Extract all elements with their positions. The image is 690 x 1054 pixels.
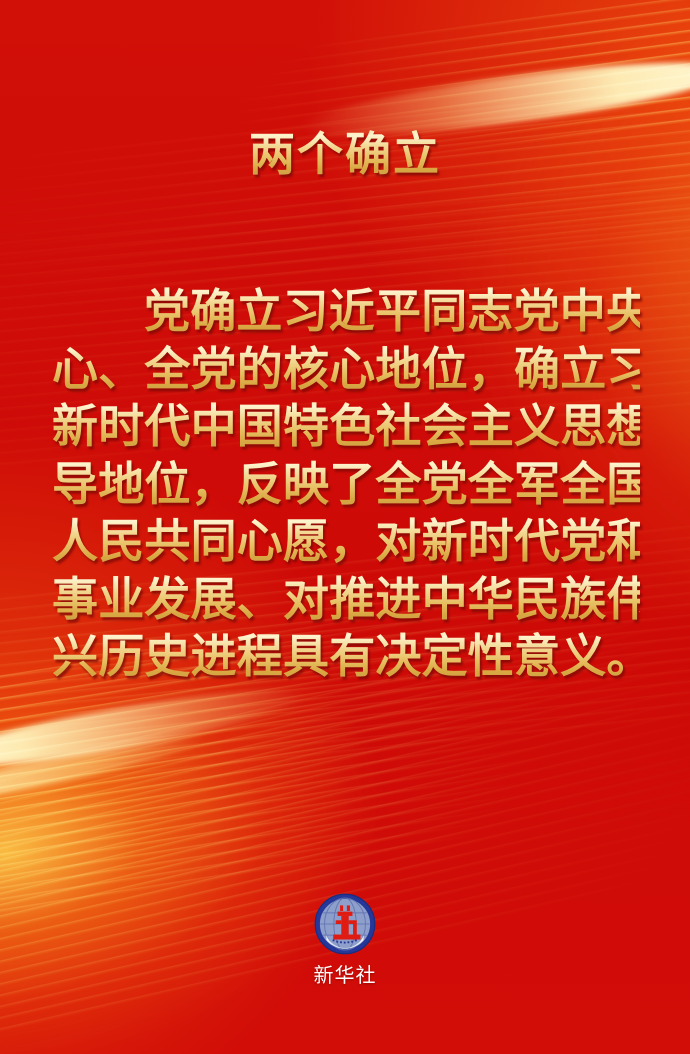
body-line: 新时代中国特色社会主义思想的指 bbox=[52, 398, 640, 456]
body-line: 导地位，反映了全党全军全国各族 bbox=[52, 456, 640, 514]
poster-content: 两个确立 党确立习近平同志党中央的核 心、全党的核心地位，确立习近平 新时代中国… bbox=[0, 0, 690, 1054]
page-title: 两个确立 bbox=[0, 128, 690, 182]
xinhua-emblem-icon bbox=[314, 893, 376, 955]
body-text-block: 党确立习近平同志党中央的核 心、全党的核心地位，确立习近平 新时代中国特色社会主… bbox=[52, 283, 640, 686]
poster-canvas: 两个确立 党确立习近平同志党中央的核 心、全党的核心地位，确立习近平 新时代中国… bbox=[0, 0, 690, 1054]
body-line: 人民共同心愿，对新时代党和国家 bbox=[52, 513, 640, 571]
body-line: 党确立习近平同志党中央的核 bbox=[52, 283, 640, 341]
body-line: 兴历史进程具有决定性意义。 bbox=[52, 628, 640, 686]
footer-logo-block: 新华社 bbox=[0, 893, 690, 989]
body-line: 事业发展、对推进中华民族伟大复 bbox=[52, 571, 640, 629]
agency-name-label: 新华社 bbox=[0, 963, 690, 989]
body-line: 心、全党的核心地位，确立习近平 bbox=[52, 341, 640, 399]
